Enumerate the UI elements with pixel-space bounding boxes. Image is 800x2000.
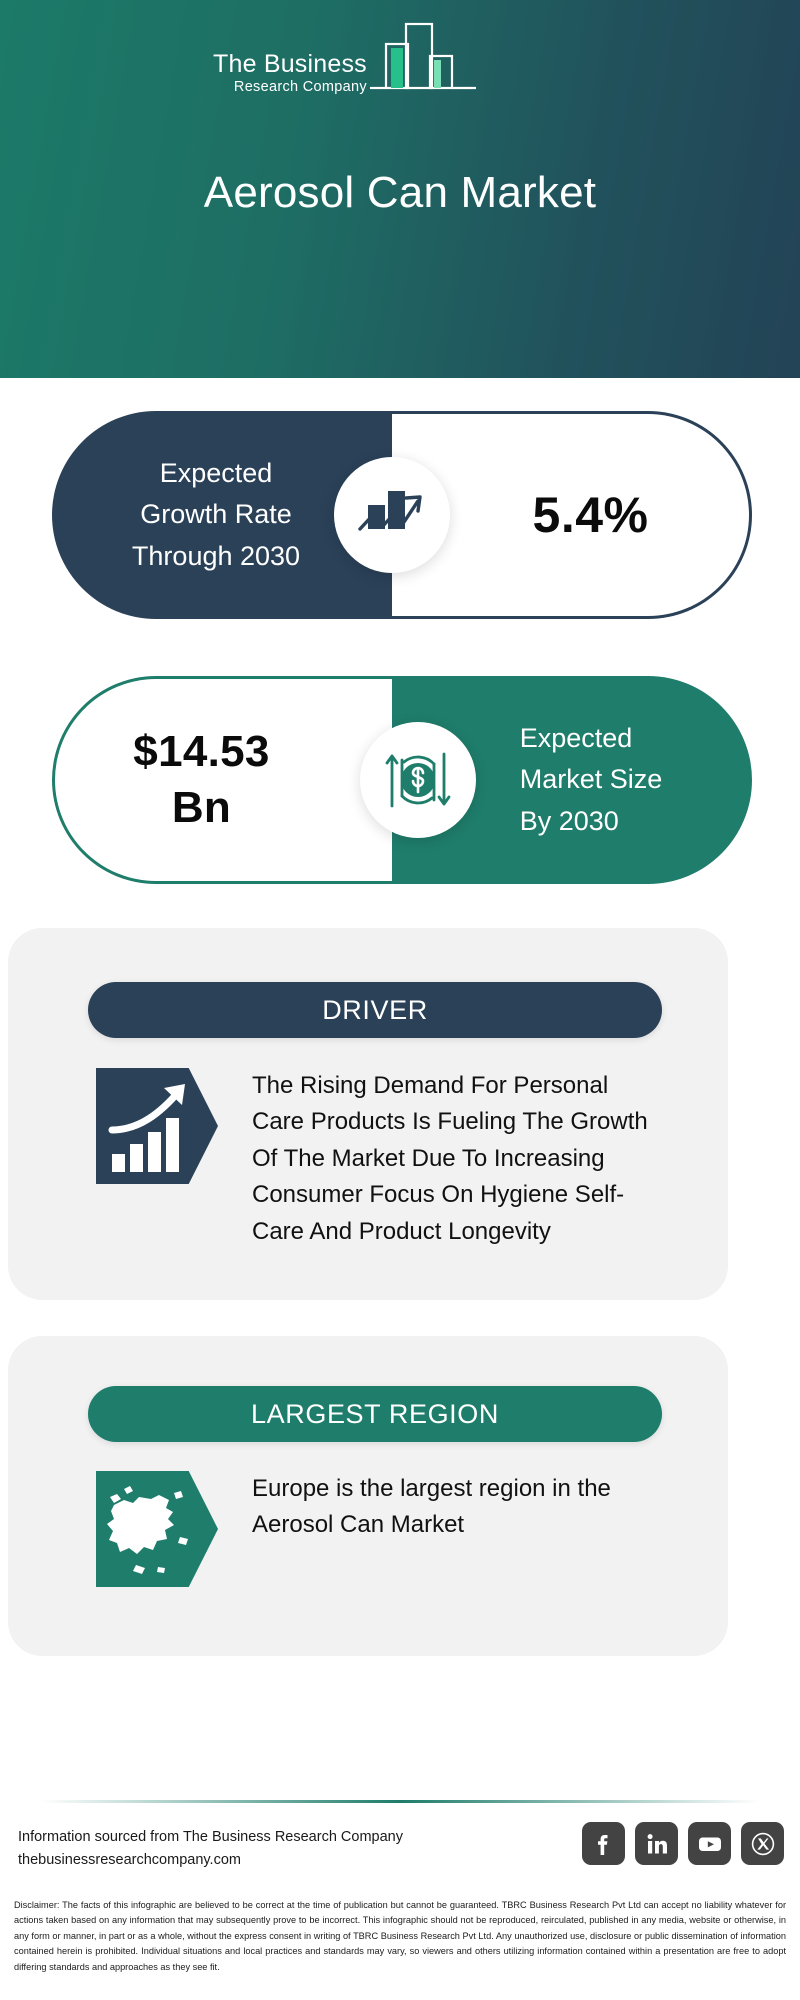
growth-label-line-2: Growth Rate [140, 499, 292, 529]
linkedin-icon[interactable] [635, 1822, 678, 1865]
market-size-value-line-2: Bn [172, 783, 231, 832]
source-attribution: Information sourced from The Business Re… [18, 1826, 403, 1873]
x-twitter-icon[interactable] [741, 1822, 784, 1865]
growth-label-line-3: Through 2030 [132, 541, 300, 571]
logo-line-2: Research Company [234, 79, 367, 96]
logo-line-1: The Business [213, 51, 367, 77]
stat-card-growth-rate-value: 5.4% [493, 486, 649, 544]
youtube-icon[interactable] [688, 1822, 731, 1865]
facebook-icon[interactable] [582, 1822, 625, 1865]
company-logo: The Business Research Company [213, 22, 478, 100]
stat-card-growth-rate: Expected Growth Rate Through 2030 5.4% [52, 411, 752, 619]
source-line-1: Information sourced from The Business Re… [18, 1826, 403, 1849]
stat-card-growth-rate-label: Expected Growth Rate Through 2030 [106, 453, 338, 576]
social-links [582, 1822, 784, 1865]
driver-text: The Rising Demand For Personal Care Prod… [252, 1068, 664, 1250]
driver-body: The Rising Demand For Personal Care Prod… [96, 1068, 664, 1250]
rising-bar-chart-arrow-icon [96, 1068, 218, 1184]
logo-wordmark: The Business Research Company [213, 51, 367, 100]
bar-chart-logo-mark-icon [368, 22, 478, 99]
growth-chart-icon [334, 457, 450, 573]
largest-region-pill: LARGEST REGION [88, 1386, 662, 1442]
driver-panel: DRIVER The Rising Demand For Personal Ca… [8, 928, 728, 1300]
market-size-value-line-1: $14.53 [133, 727, 269, 776]
footer-divider [40, 1800, 760, 1803]
stat-card-market-size-value-panel: $14.53 Bn [52, 676, 392, 884]
disclaimer-text: Disclaimer: The facts of this infographi… [14, 1898, 786, 1975]
market-size-label-line-2: Market Size [520, 764, 663, 794]
stat-card-market-size-label: Expected Market Size By 2030 [458, 718, 687, 841]
largest-region-panel: LARGEST REGION Europe is the l [8, 1336, 728, 1656]
europe-map-icon [96, 1471, 218, 1587]
largest-region-text: Europe is the largest region in the Aero… [252, 1471, 664, 1544]
stat-card-market-size: $14.53 Bn Expected Market Size By 2030 [52, 676, 752, 884]
market-size-label-line-3: By 2030 [520, 806, 619, 836]
stat-card-market-size-value: $14.53 Bn [133, 724, 313, 837]
header-banner: The Business Research Company Aerosol Ca… [0, 0, 800, 378]
source-website[interactable]: thebusinessresearchcompany.com [18, 1849, 403, 1872]
page-title: Aerosol Can Market [0, 168, 800, 218]
infographic-page: The Business Research Company Aerosol Ca… [0, 0, 800, 2000]
largest-region-pill-label: LARGEST REGION [251, 1399, 499, 1430]
growth-label-line-1: Expected [160, 458, 273, 488]
dollar-exchange-icon [360, 722, 476, 838]
driver-pill-label: DRIVER [322, 995, 428, 1026]
market-size-label-line-1: Expected [520, 723, 633, 753]
largest-region-body: Europe is the largest region in the Aero… [96, 1471, 664, 1587]
driver-pill: DRIVER [88, 982, 662, 1038]
